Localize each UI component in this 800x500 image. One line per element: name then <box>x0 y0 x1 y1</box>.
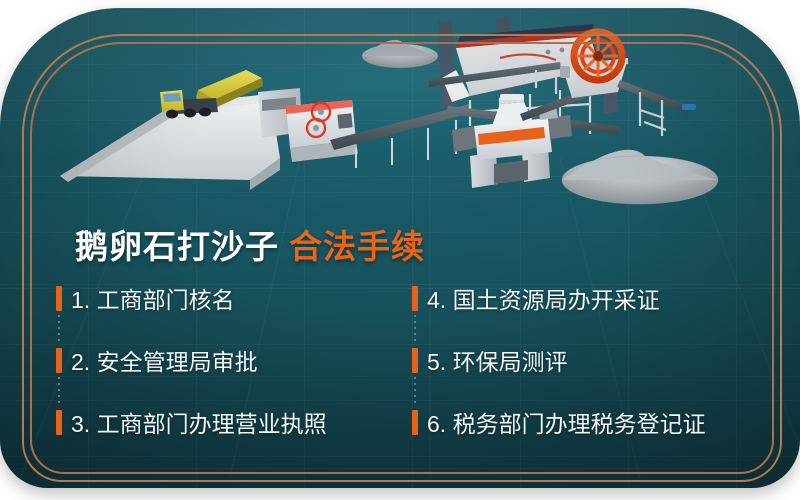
title-white: 鹅卵石打沙子 <box>75 228 279 265</box>
dotted-connector-icon <box>58 315 60 342</box>
bullet-bar-icon <box>56 286 62 311</box>
bullet-bar-icon <box>412 286 418 311</box>
list-item-text-1: 1. 工商部门核名 <box>71 281 235 315</box>
page-title: 鹅卵石打沙子合法手续 <box>75 220 425 268</box>
bullet-bar-icon <box>56 410 62 435</box>
list-item-text-6: 6. 税务部门办理税务登记证 <box>427 405 706 439</box>
list-item-text-2: 2. 安全管理局审批 <box>71 343 258 377</box>
list-item-text-5: 5. 环保局测评 <box>427 343 568 377</box>
dotted-connector-icon <box>414 315 416 342</box>
list-item-text-3: 3. 工商部门办理营业执照 <box>71 405 327 439</box>
poster-panel: 鹅卵石打沙子合法手续 1. 工商部门核名 2. 安全管理局审批 3. <box>0 8 800 488</box>
bullet-bar-icon <box>412 348 418 373</box>
title-orange: 合法手续 <box>289 228 425 265</box>
dotted-connector-icon <box>414 377 416 404</box>
dotted-connector-icon <box>58 377 60 404</box>
poster: 鹅卵石打沙子合法手续 1. 工商部门核名 2. 安全管理局审批 3. <box>0 0 800 500</box>
bullet-bar-icon <box>56 348 62 373</box>
list-item-text-4: 4. 国土资源局办开采证 <box>427 281 660 315</box>
bullet-bar-icon <box>412 410 418 435</box>
